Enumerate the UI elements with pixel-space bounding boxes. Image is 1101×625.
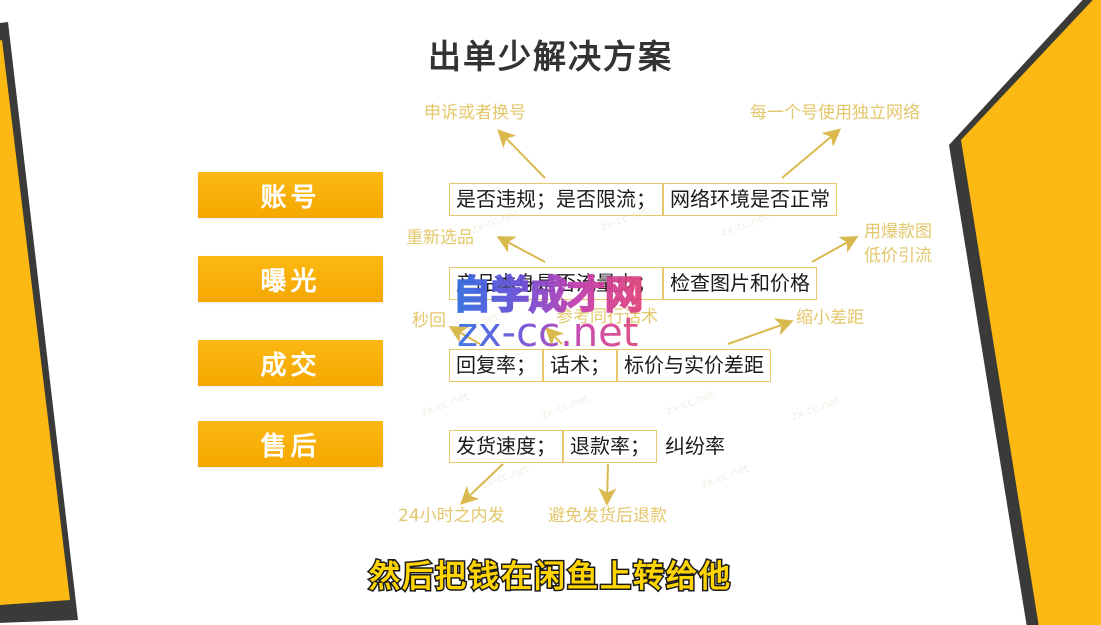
category-chip-aftersale[interactable]: 售后 xyxy=(198,421,383,467)
chip-label: 账号 xyxy=(260,177,320,214)
connector-arrows xyxy=(0,0,1101,625)
row-item-boxed: 退款率； xyxy=(563,430,657,463)
watermark-tile: zx-cc.net xyxy=(539,392,590,421)
row-item-boxed: 产品本身是否流量少； xyxy=(449,267,663,300)
note-independent-network: 每一个号使用独立网络 xyxy=(750,103,920,124)
page-title: 出单少解决方案 xyxy=(0,30,1101,78)
note-narrow-gap: 缩小差距 xyxy=(796,308,864,329)
bottom-caption: 然后把钱在闲鱼上转给他 xyxy=(0,551,1101,596)
right-decoration-shape xyxy=(921,0,1101,625)
note-ship-within-24h: 24小时之内发 xyxy=(398,506,505,527)
watermark-tile: zx-cc.net xyxy=(479,462,530,491)
row-item-boxed: 是否违规；是否限流； xyxy=(449,183,663,216)
row-item-boxed: 发货速度； xyxy=(449,430,563,463)
aftersale-row: 发货速度； 退款率； 纠纷率 xyxy=(449,429,731,463)
note-instant-reply: 秒回 xyxy=(412,311,446,332)
watermark-tile: zx-cc.net xyxy=(789,394,840,423)
note-hot-item-image: 用爆款图 xyxy=(864,222,932,243)
watermark-tile: zx-cc.net xyxy=(449,310,500,339)
exposure-row: 产品本身是否流量少； 检查图片和价格 xyxy=(449,266,817,300)
row-item-boxed: 检查图片和价格 xyxy=(663,267,817,300)
row-item-boxed: 网络环境是否正常 xyxy=(663,183,837,216)
note-low-price-traffic: 低价引流 xyxy=(864,246,932,267)
watermark-tile: zx-cc.net xyxy=(699,462,750,491)
note-avoid-refund-after-ship: 避免发货后退款 xyxy=(548,506,667,527)
note-appeal-or-switch: 申诉或者换号 xyxy=(424,103,526,124)
row-item-boxed: 标价与实价差距 xyxy=(617,349,771,382)
left-decoration-shape xyxy=(0,0,180,625)
row-item-plain: 纠纷率 xyxy=(657,431,731,462)
slide-canvas: 出单少解决方案 zx-cc.net zx-cc.net zx-cc.net zx… xyxy=(0,0,1101,625)
account-row: 是否违规；是否限流； 网络环境是否正常 xyxy=(449,182,837,216)
chip-label: 成交 xyxy=(260,345,320,382)
category-chip-exposure[interactable]: 曝光 xyxy=(198,256,383,302)
category-chip-deal[interactable]: 成交 xyxy=(198,340,383,386)
note-reference-scripts: 参考同行话术 xyxy=(556,307,658,328)
watermark-tile: zx-cc.net xyxy=(664,388,715,417)
category-chip-account[interactable]: 账号 xyxy=(198,172,383,218)
chip-label: 曝光 xyxy=(260,261,320,298)
note-reselect-product: 重新选品 xyxy=(406,228,474,249)
watermark-tile: zx-cc.net xyxy=(419,390,470,419)
chip-label: 售后 xyxy=(260,426,320,463)
row-item-boxed: 话术； xyxy=(543,349,617,382)
deal-row: 回复率； 话术； 标价与实价差距 xyxy=(449,348,771,382)
row-item-boxed: 回复率； xyxy=(449,349,543,382)
